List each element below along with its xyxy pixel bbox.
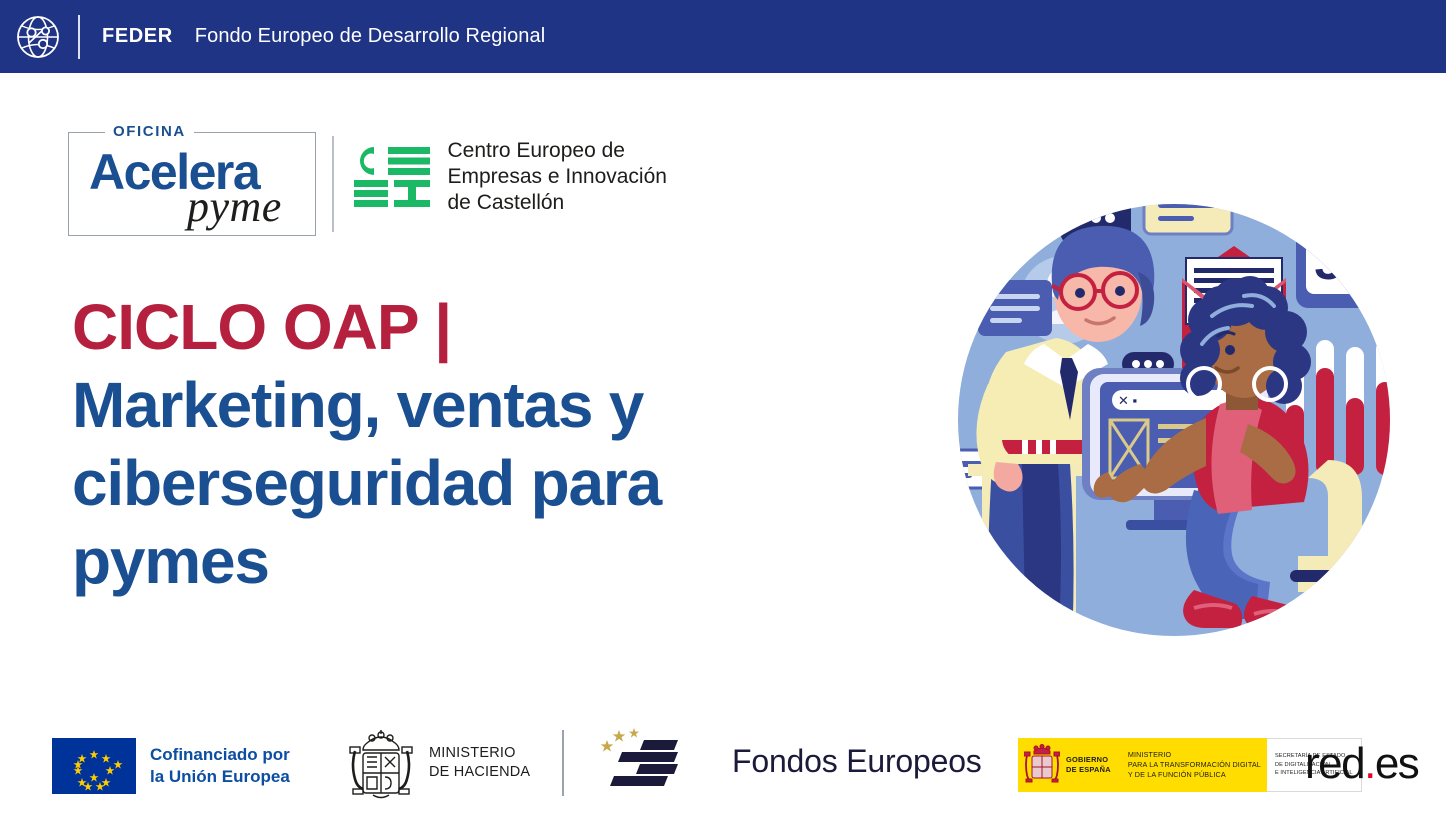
gobierno-yellow-block: GOBIERNO DE ESPAÑA MINISTERIO PARA LA TR…: [1018, 738, 1267, 792]
redes-dot: .: [1364, 739, 1375, 788]
headline-line-1: CICLO OAP |: [72, 292, 892, 364]
headline-line-3: ciberseguridad para: [72, 446, 892, 520]
gobierno-espana-text: GOBIERNO DE ESPAÑA: [1066, 755, 1111, 775]
dots-pill-right: [1358, 550, 1410, 574]
chat-bubble-lines-left: [978, 280, 1052, 336]
chat-bubble-cream-top: [1144, 190, 1232, 234]
feder-header-band: FEDER Fondo Europeo de Desarrollo Region…: [0, 0, 1446, 73]
hacienda-line-1: MINISTERIO: [429, 744, 530, 763]
ministerio-line-3: Y DE LA FUNCIÓN PÚBLICA: [1128, 770, 1261, 780]
ceei-line-1: Centro Europeo de: [448, 138, 667, 164]
acelera-pyme-word-pyme: pyme: [187, 185, 282, 229]
ceei-mark-icon: [352, 144, 432, 210]
spain-coat-of-arms-small-icon: [1024, 742, 1060, 788]
calendar-icon: 31: [1296, 194, 1388, 308]
fondos-europeos-label: Fondos Europeos: [732, 743, 982, 780]
gobierno-line-2: DE ESPAÑA: [1066, 765, 1111, 775]
redes-logo: red.es: [1305, 742, 1418, 786]
ministerio-transformacion-text: MINISTERIO PARA LA TRANSFORMACIÓN DIGITA…: [1128, 750, 1261, 781]
ministerio-hacienda-logo: MINISTERIO DE HACIENDA: [345, 723, 530, 803]
promo-banner-page: FEDER Fondo Europeo de Desarrollo Region…: [0, 0, 1446, 813]
gobierno-line-1: GOBIERNO: [1066, 755, 1111, 765]
headline-line-4: pymes: [72, 524, 892, 598]
trend-arrow-bubble: [1400, 268, 1410, 350]
spain-coat-of-arms-icon: [345, 723, 417, 803]
globe-network-icon: [14, 13, 62, 61]
ceei-line-2: Empresas e Innovación: [448, 164, 667, 190]
brand-logo-row: OFICINA Acelera pyme: [68, 132, 667, 236]
ministerio-line-2: PARA LA TRANSFORMACIÓN DIGITAL: [1128, 760, 1261, 770]
eu-text-line-1: Cofinanciado por: [150, 744, 290, 766]
headline-line-2: Marketing, ventas y: [72, 368, 892, 442]
office-teamwork-marketing-illustration: 31: [948, 172, 1410, 662]
fondos-europeos-logo: Fondos Europeos: [600, 728, 982, 794]
eu-text-line-2: la Unión Europea: [150, 766, 290, 788]
redes-part-2: es: [1375, 739, 1418, 788]
feder-abbreviation: FEDER: [102, 25, 173, 48]
ministerio-line-1: MINISTERIO: [1128, 750, 1261, 760]
hacienda-text-block: MINISTERIO DE HACIENDA: [429, 744, 530, 782]
calendar-day-number: 31: [1314, 234, 1370, 290]
fondos-europeos-mark-icon: [600, 728, 718, 794]
acelera-pyme-kicker: OFICINA: [105, 123, 194, 140]
header-divider: [78, 15, 80, 59]
acelera-pyme-logo: OFICINA Acelera pyme: [68, 132, 316, 236]
eu-cofinancing-logo: Cofinanciado por la Unión Europea: [52, 738, 290, 794]
ceei-logo: Centro Europeo de Empresas e Innovación …: [352, 138, 667, 216]
ceei-name-block: Centro Europeo de Empresas e Innovación …: [448, 138, 667, 216]
hacienda-line-2: DE HACIENDA: [429, 763, 530, 782]
eu-flag-icon: [52, 738, 136, 794]
redes-part-1: red: [1305, 739, 1364, 788]
eu-cofinancing-text: Cofinanciado por la Unión Europea: [150, 744, 290, 788]
footer-divider: [562, 730, 564, 796]
ceei-line-3: de Castellón: [448, 190, 667, 216]
headline-block: CICLO OAP | Marketing, ventas y ciberseg…: [72, 292, 892, 598]
feder-full-name: Fondo Europeo de Desarrollo Regional: [195, 25, 546, 48]
logo-separator: [332, 136, 334, 232]
svg-text:✕ ▪: ✕ ▪: [1118, 393, 1137, 408]
